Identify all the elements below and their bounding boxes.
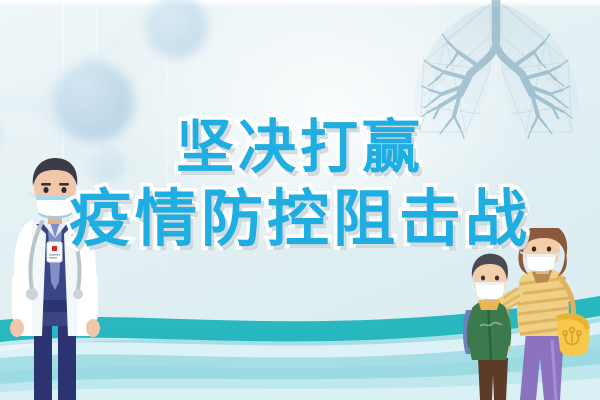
- male-doctor: [2, 150, 108, 400]
- poster-canvas: 坚决打赢 疫情防控阻击战: [0, 0, 600, 400]
- lungs-illustration: [386, 0, 600, 171]
- family-group: [460, 228, 600, 400]
- schoolboy-with-backpack: [463, 254, 511, 400]
